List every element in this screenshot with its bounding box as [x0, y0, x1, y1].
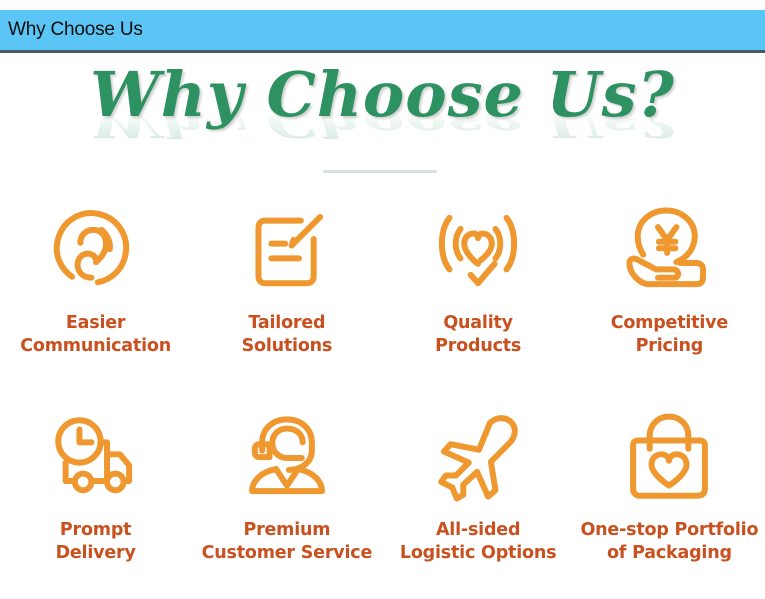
- feature-all-sided-logistic-options[interactable]: All-sided Logistic Options: [383, 408, 574, 565]
- page-content: Why Choose Us? Why Choose Us? Easier Com…: [0, 56, 765, 599]
- feature-tailored-solutions[interactable]: Tailored Solutions: [191, 201, 382, 358]
- title-divider: [323, 170, 437, 173]
- document-pencil-icon: [237, 201, 337, 301]
- feature-easier-communication[interactable]: Easier Communication: [0, 201, 191, 358]
- heart-waves-check-icon: [428, 201, 528, 301]
- hero-title-reflection: Why Choose Us?: [0, 142, 765, 204]
- hero-title-block: Why Choose Us? Why Choose Us?: [0, 64, 765, 174]
- feature-label: Tailored Solutions: [242, 312, 333, 358]
- feature-label: Quality Products: [435, 312, 521, 358]
- features-row-2: Prompt Delivery Premium Customer Service: [0, 408, 765, 565]
- feature-label: One-stop Portfolio of Packaging: [580, 519, 758, 565]
- window-title: Why Choose Us: [8, 19, 143, 41]
- hand-yen-coin-icon: [619, 201, 719, 301]
- features-row-1: Easier Communication Tailored Solutions: [0, 201, 765, 358]
- feature-prompt-delivery[interactable]: Prompt Delivery: [0, 408, 191, 565]
- headset-person-icon: [237, 408, 337, 508]
- feature-quality-products[interactable]: Quality Products: [383, 201, 574, 358]
- feature-label: Prompt Delivery: [56, 519, 136, 565]
- features-grid: Easier Communication Tailored Solutions: [0, 201, 765, 565]
- feature-label: Premium Customer Service: [202, 519, 372, 565]
- feature-label: Easier Communication: [20, 312, 171, 358]
- feature-premium-customer-service[interactable]: Premium Customer Service: [191, 408, 382, 565]
- airplane-icon: [428, 408, 528, 508]
- feature-label: Competitive Pricing: [611, 312, 728, 358]
- feature-label: All-sided Logistic Options: [400, 519, 556, 565]
- feature-competitive-pricing[interactable]: Competitive Pricing: [574, 201, 765, 358]
- truck-clock-icon: [46, 408, 146, 508]
- window-title-bar: Why Choose Us: [0, 10, 765, 53]
- ear-listening-icon: [46, 201, 146, 301]
- feature-one-stop-portfolio-of-packaging[interactable]: One-stop Portfolio of Packaging: [574, 408, 765, 565]
- shopping-bag-heart-icon: [619, 408, 719, 508]
- page-title: Why Choose Us?: [90, 64, 675, 126]
